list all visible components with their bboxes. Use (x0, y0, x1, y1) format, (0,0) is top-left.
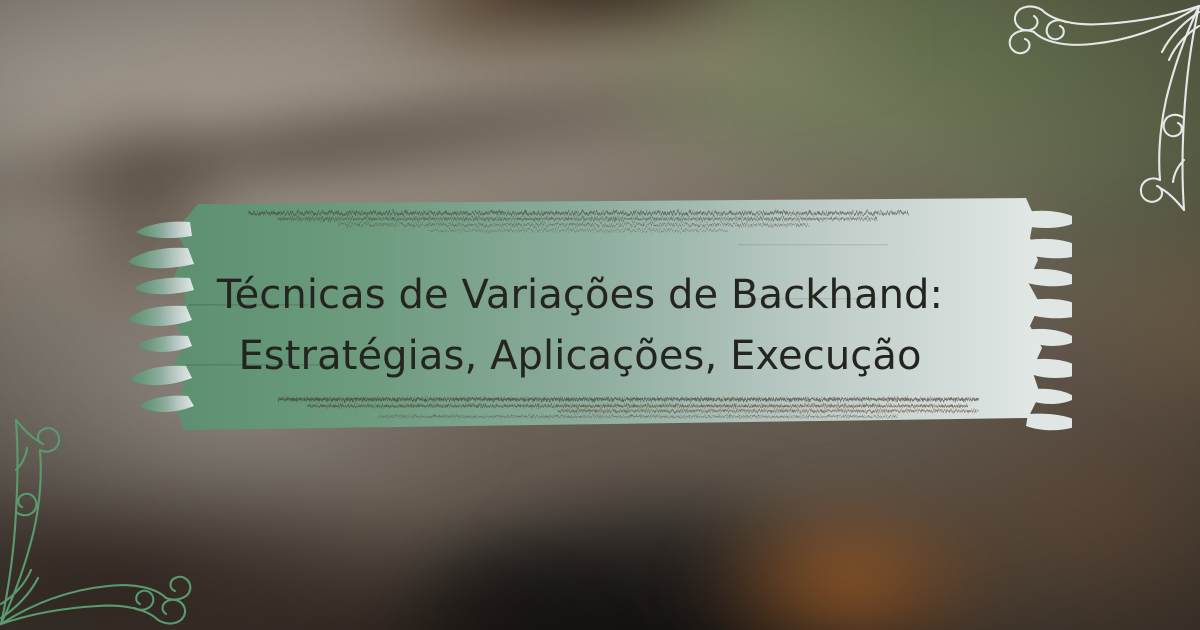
floral-flourish-icon-top-right (970, 0, 1200, 215)
banner-canvas: Técnicas de Variações de Backhand: Estra… (0, 0, 1200, 630)
title-line-1: Técnicas de Variações de Backhand: (180, 265, 980, 326)
floral-flourish-icon-bottom-left (0, 415, 230, 630)
page-title: Técnicas de Variações de Backhand: Estra… (180, 265, 980, 387)
title-line-2: Estratégias, Aplicações, Execução (180, 326, 980, 387)
